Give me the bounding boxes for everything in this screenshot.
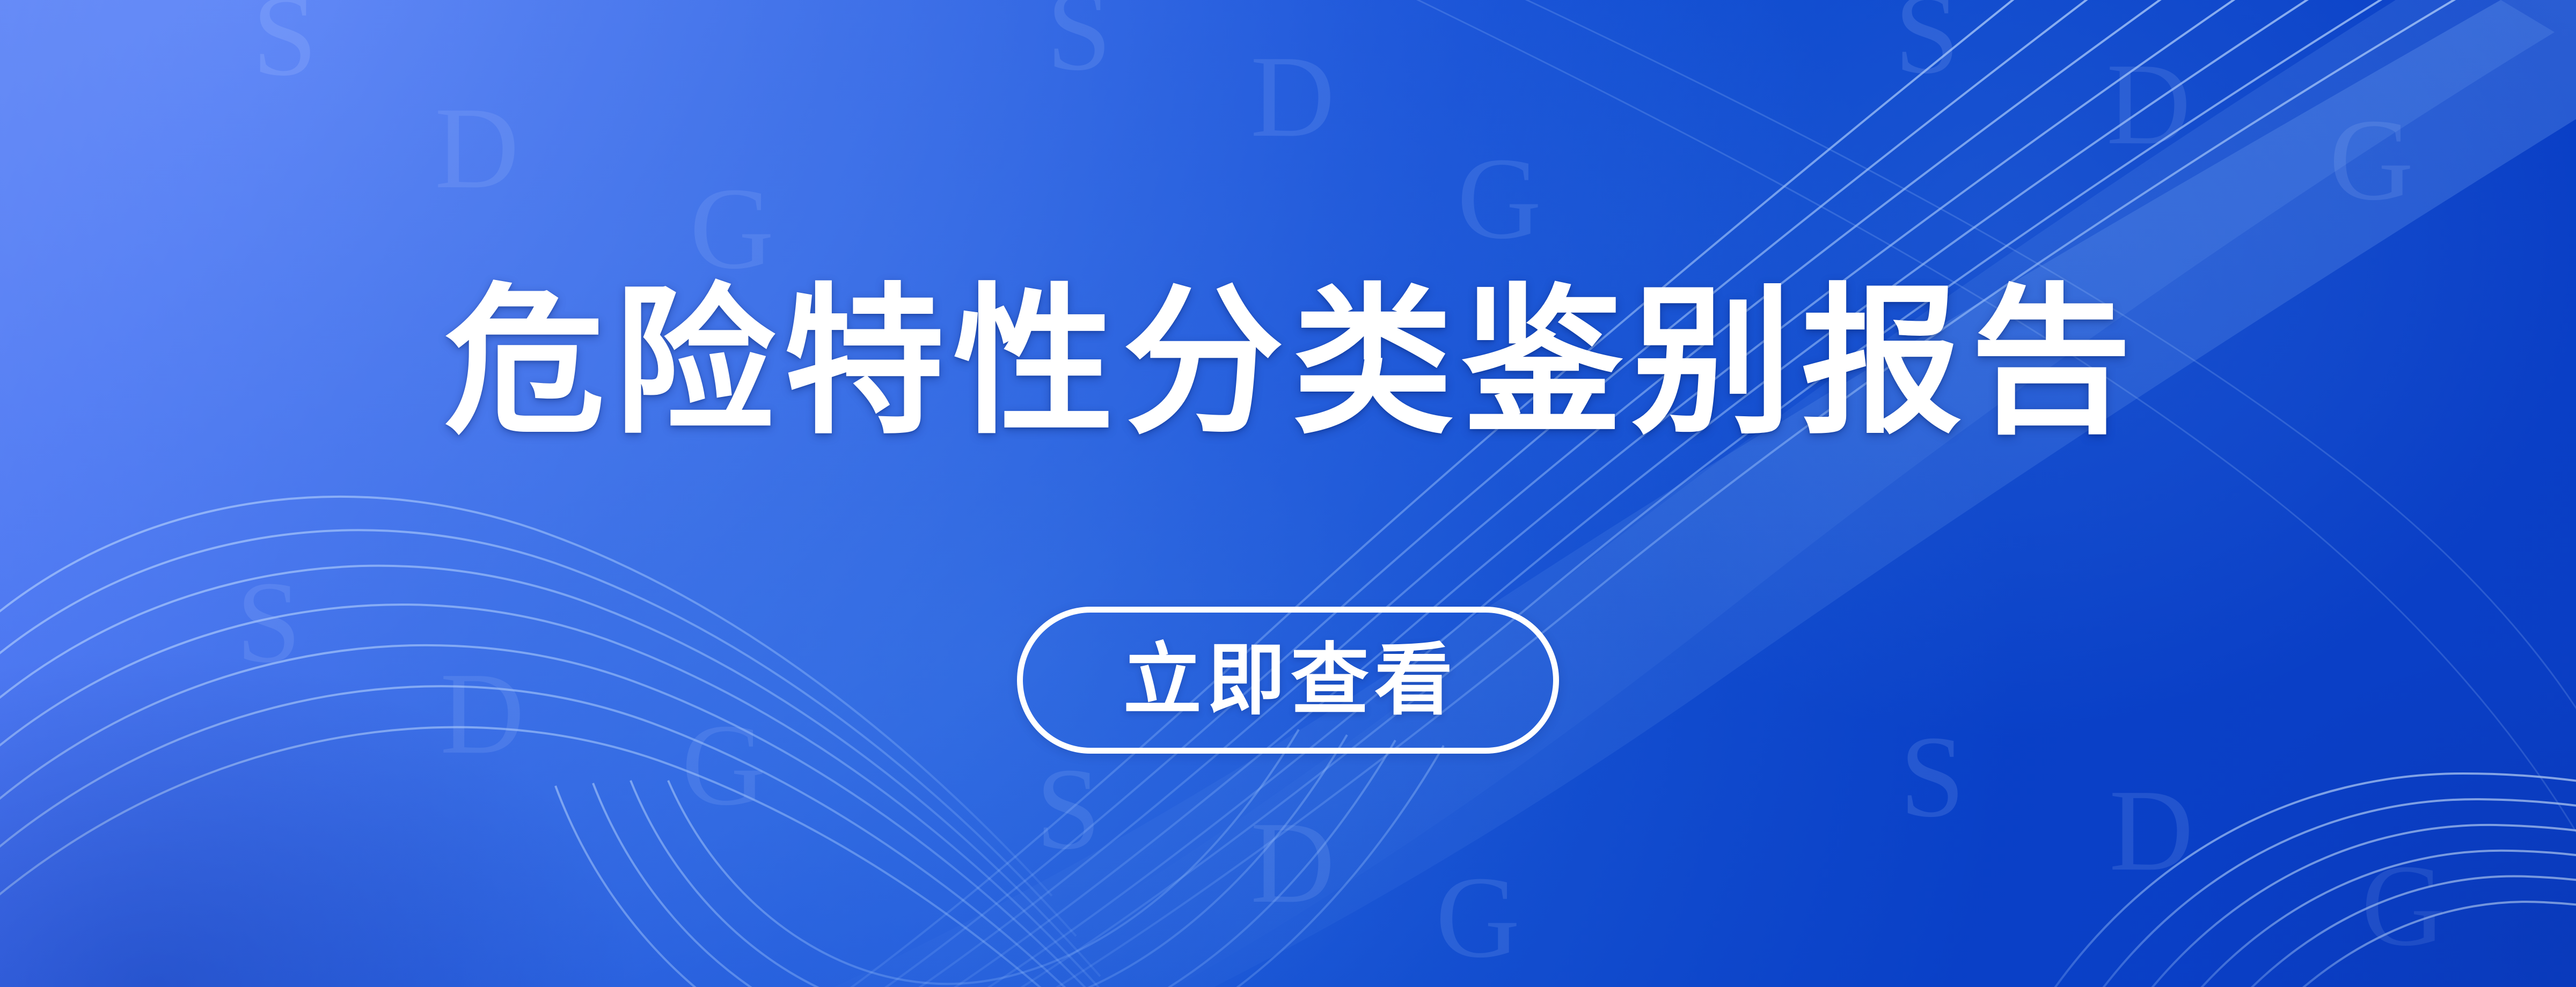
promo-banner: SDGSDGSDGSDGSDGSDG 危险特性分类鉴别报告 立即查看 — [0, 0, 2576, 987]
banner-content: 危险特性分类鉴别报告 立即查看 — [0, 0, 2576, 987]
view-now-button-label: 立即查看 — [1118, 641, 1458, 719]
page-title: 危险特性分类鉴别报告 — [436, 277, 2140, 447]
view-now-button[interactable]: 立即查看 — [1017, 607, 1559, 754]
